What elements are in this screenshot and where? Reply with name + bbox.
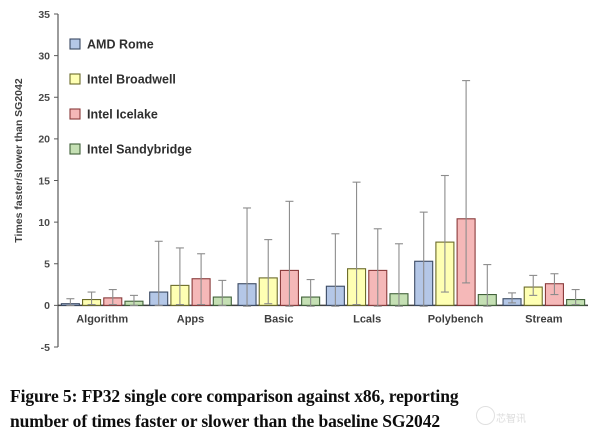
figure-container: -505101520253035Times faster/slower than… — [0, 0, 600, 443]
legend-label: AMD Rome — [87, 38, 154, 52]
y-tick-label: 0 — [44, 300, 50, 312]
bar-group — [238, 201, 320, 306]
figure-caption: Figure 5: FP32 single core comparison ag… — [10, 384, 594, 434]
caption-line-2: number of times faster or slower than th… — [10, 409, 594, 434]
y-tick-label: 30 — [38, 50, 50, 62]
legend-swatch — [70, 109, 80, 119]
bar-group — [150, 241, 232, 305]
x-category-label-apps: Apps — [177, 313, 205, 325]
bar-group — [415, 81, 497, 307]
bar-chart-svg: -505101520253035Times faster/slower than… — [0, 0, 600, 372]
legend-swatch — [70, 144, 80, 154]
y-axis-title: Times faster/slower than SG2042 — [13, 78, 25, 243]
x-category-label-lcals: Lcals — [353, 313, 381, 325]
legend-label: Intel Icelake — [87, 108, 158, 122]
legend-item-intel-icelake[interactable]: Intel Icelake — [70, 108, 158, 122]
y-tick-label: 20 — [38, 134, 50, 146]
legend-item-amd-rome[interactable]: AMD Rome — [70, 38, 154, 52]
x-category-label-algorithm: Algorithm — [76, 313, 128, 325]
x-category-label-stream: Stream — [525, 313, 563, 325]
bar-group — [326, 182, 408, 306]
legend-item-intel-broadwell[interactable]: Intel Broadwell — [70, 73, 176, 87]
y-tick-label: 25 — [38, 92, 50, 104]
legend-label: Intel Broadwell — [87, 73, 176, 87]
y-tick-label: -5 — [41, 342, 50, 354]
y-tick-label: 10 — [38, 217, 50, 229]
legend-swatch — [70, 74, 80, 84]
bar-group — [61, 290, 143, 306]
y-tick-label: 15 — [38, 175, 50, 187]
x-category-label-polybench: Polybench — [428, 313, 484, 325]
chart-canvas: -505101520253035Times faster/slower than… — [0, 0, 600, 372]
x-category-label-basic: Basic — [264, 313, 293, 325]
caption-line-1: Figure 5: FP32 single core comparison ag… — [10, 384, 594, 409]
bar-group — [503, 274, 585, 306]
y-tick-label: 35 — [38, 9, 50, 21]
y-tick-label: 5 — [44, 259, 50, 271]
legend-swatch — [70, 39, 80, 49]
legend-label: Intel Sandybridge — [87, 143, 192, 157]
legend-item-intel-sandybridge[interactable]: Intel Sandybridge — [70, 143, 192, 157]
